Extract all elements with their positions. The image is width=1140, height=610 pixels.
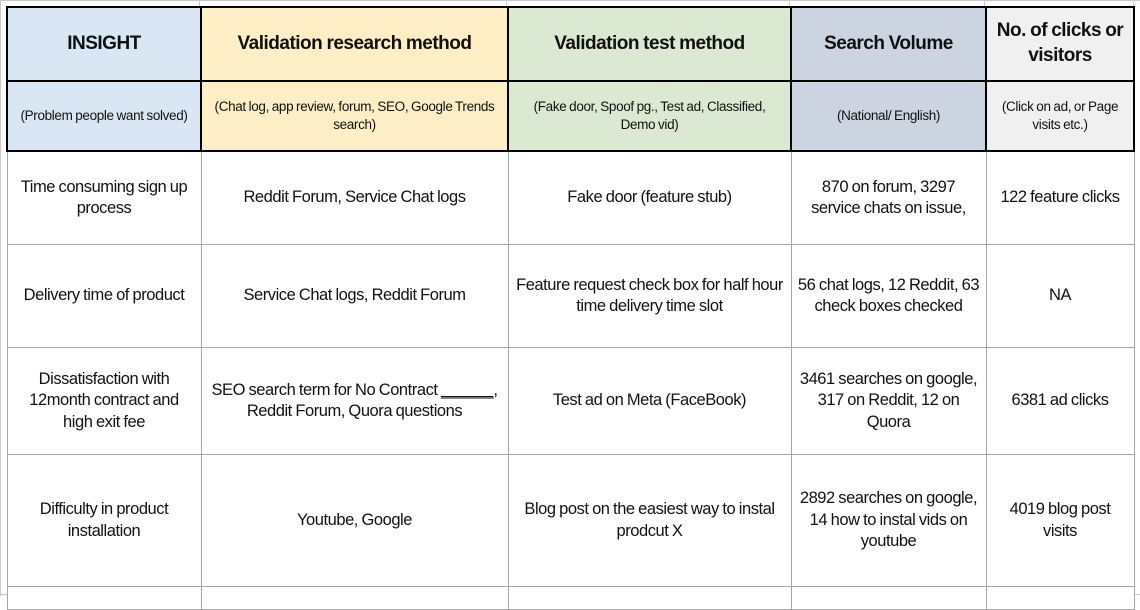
column-note-test[interactable]: (Fake door, Spoof pg., Test ad, Classifi… [508,81,791,151]
column-header-test[interactable]: Validation test method [508,7,791,81]
cell-volume[interactable]: 56 chat logs, 12 Reddit, 63 check boxes … [791,245,986,348]
cell-test[interactable]: Feature request check box for half hour … [508,245,791,348]
column-note-insight[interactable]: (Problem people want solved) [7,81,201,151]
grid-line [0,0,1140,1]
column-header-research[interactable]: Validation research method [201,7,508,81]
cell-clicks[interactable]: NA [986,245,1134,348]
cell-clicks[interactable]: 6381 ad clicks [986,348,1134,455]
cell-clicks[interactable] [986,587,1134,610]
table-header-notes: (Problem people want solved) (Chat log, … [7,81,1134,151]
column-note-clicks[interactable]: (Click on ad, or Page visits etc.) [986,81,1134,151]
cell-research-text-before: SEO search term for No Contract [211,381,441,399]
cell-clicks[interactable]: 122 feature clicks [986,151,1134,245]
column-header-volume[interactable]: Search Volume [791,7,986,81]
cell-research[interactable]: Service Chat logs, Reddit Forum [201,245,508,348]
cell-research[interactable] [201,587,508,610]
cell-research-blank: ______ [441,381,493,399]
cell-clicks[interactable]: 4019 blog post visits [986,455,1134,587]
column-note-research[interactable]: (Chat log, app review, forum, SEO, Googl… [201,81,508,151]
table-row: Dissatisfaction with 12month contract an… [7,348,1134,455]
table-row: Difficulty in product installation Youtu… [7,455,1134,587]
cell-research[interactable]: Youtube, Google [201,455,508,587]
table-header-titles: INSIGHT Validation research method Valid… [7,7,1134,81]
cell-test[interactable]: Test ad on Meta (FaceBook) [508,348,791,455]
cell-volume[interactable] [791,587,986,610]
cell-test[interactable]: Blog post on the easiest way to instal p… [508,455,791,587]
cell-research[interactable]: Reddit Forum, Service Chat logs [201,151,508,245]
cell-volume[interactable]: 3461 searches on google, 317 on Reddit, … [791,348,986,455]
cell-volume[interactable]: 870 on forum, 3297 service chats on issu… [791,151,986,245]
cell-insight[interactable] [7,587,201,610]
cell-research[interactable]: SEO search term for No Contract ______, … [201,348,508,455]
column-header-insight[interactable]: INSIGHT [7,7,201,81]
column-header-clicks[interactable]: No. of clicks or visitors [986,7,1134,81]
cell-insight[interactable]: Time consuming sign up process [7,151,201,245]
cell-insight[interactable]: Difficulty in product installation [7,455,201,587]
spreadsheet-canvas: INSIGHT Validation research method Valid… [0,0,1140,596]
cell-test[interactable] [508,587,791,610]
cell-volume[interactable]: 2892 searches on google, 14 how to insta… [791,455,986,587]
validation-research-table: INSIGHT Validation research method Valid… [6,6,1135,610]
cell-insight[interactable]: Delivery time of product [7,245,201,348]
cell-test[interactable]: Fake door (feature stub) [508,151,791,245]
grid-line [0,0,1,596]
column-note-volume[interactable]: (National/ English) [791,81,986,151]
cell-insight[interactable]: Dissatisfaction with 12month contract an… [7,348,201,455]
table-row-partial [7,587,1134,610]
table-row: Delivery time of product Service Chat lo… [7,245,1134,348]
table-row: Time consuming sign up process Reddit Fo… [7,151,1134,245]
